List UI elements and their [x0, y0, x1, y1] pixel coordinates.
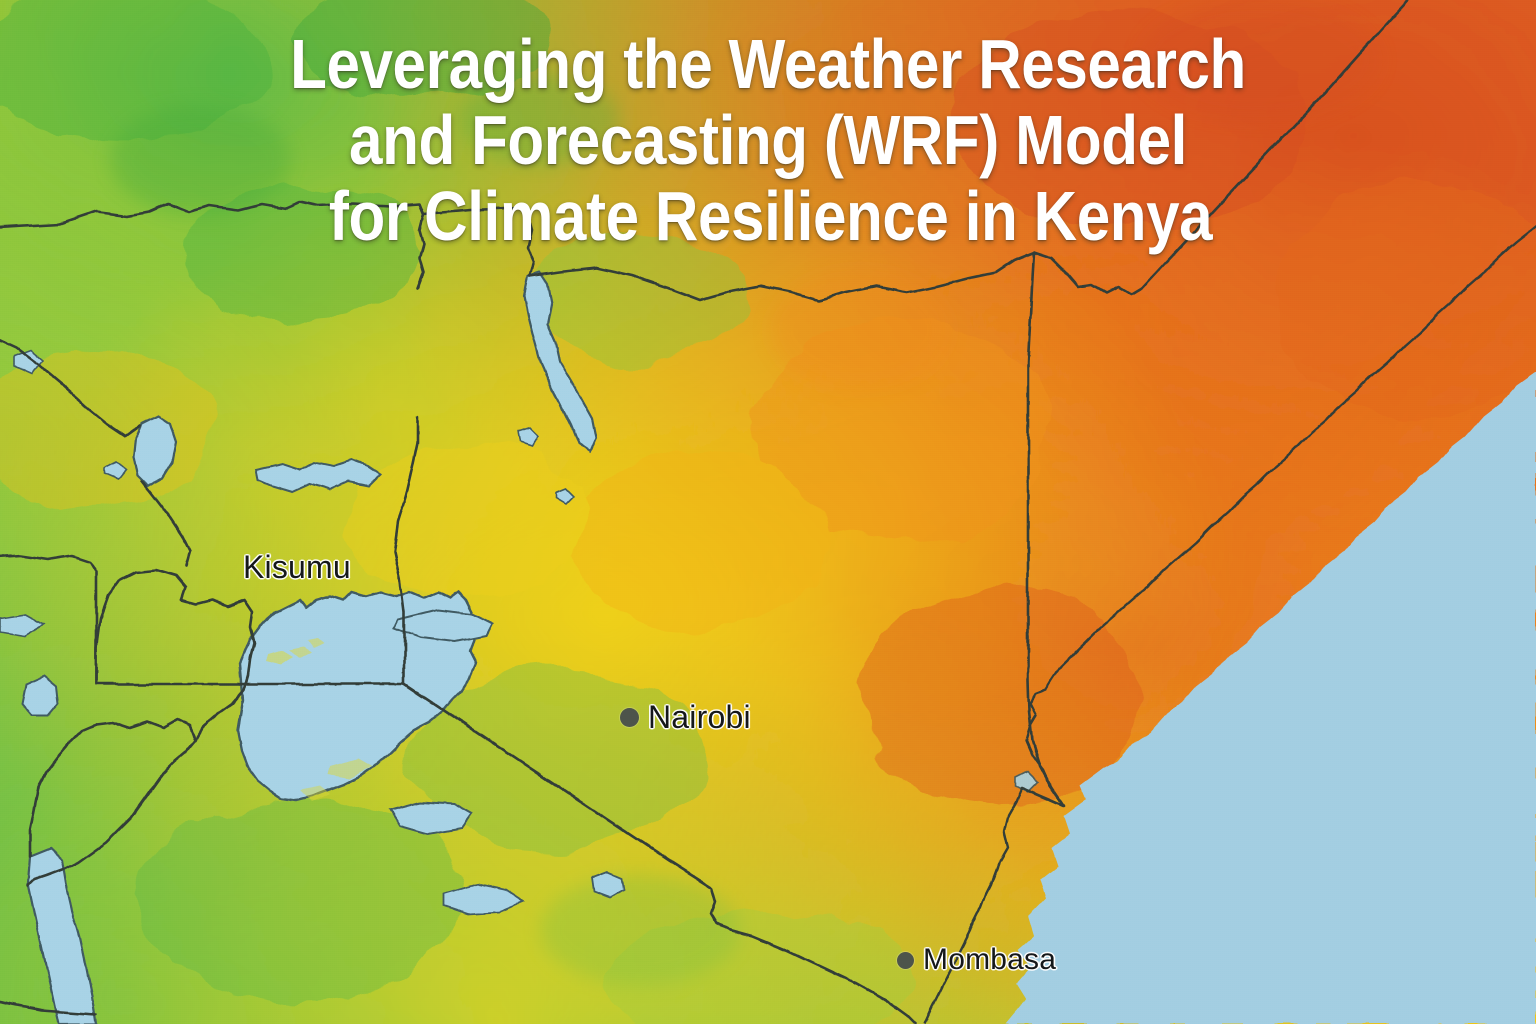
- map-figure: Leveraging the Weather Research and Fore…: [0, 0, 1536, 1024]
- geography-layer: [0, 0, 1536, 1024]
- lake-victoria: [238, 592, 492, 834]
- northeast-water-sliver: [1360, 0, 1536, 300]
- lake-tanganyika: [28, 848, 96, 1024]
- lake-turkana: [524, 272, 596, 452]
- lake-edward: [22, 676, 58, 716]
- lake-kyoga: [256, 460, 380, 492]
